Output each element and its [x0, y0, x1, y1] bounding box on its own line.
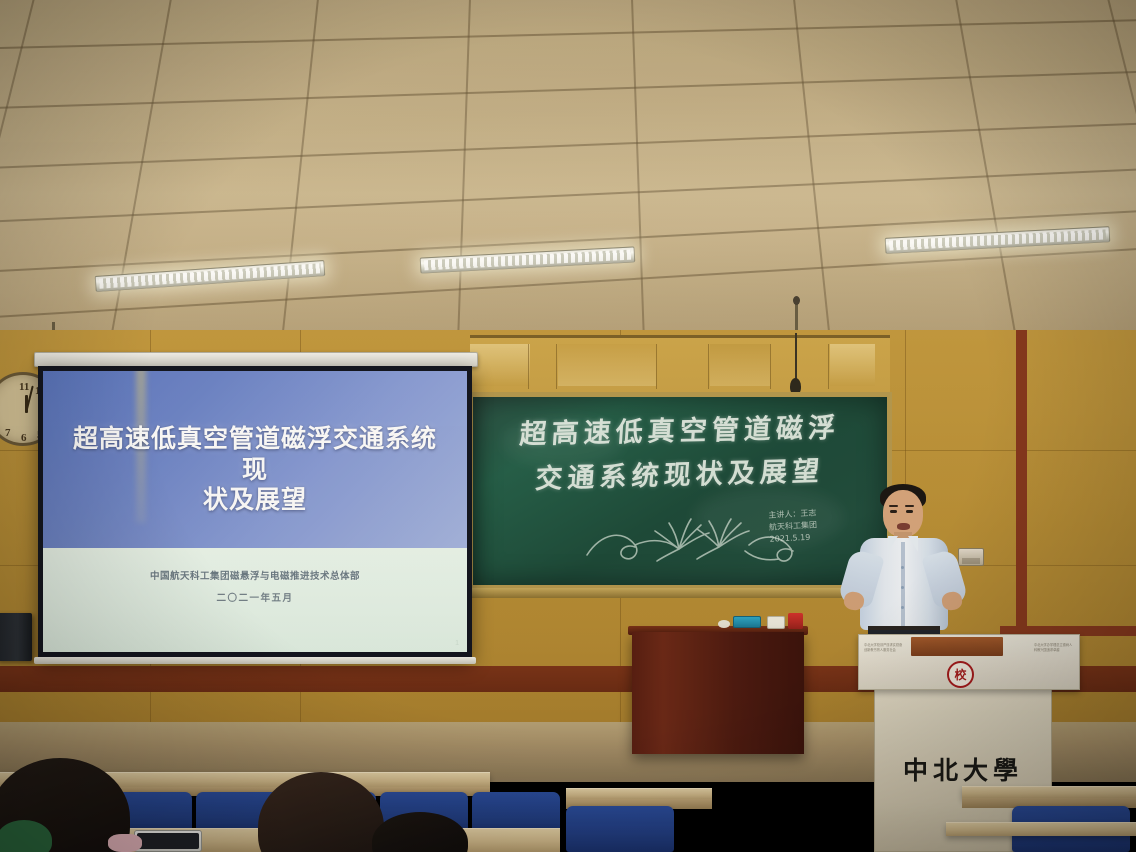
white-card[interactable]	[767, 616, 785, 629]
presenter-mouth	[897, 523, 910, 530]
projection-screen: 超高速低真空管道磁浮交通系统现 状及展望 中国航天科工集团磁悬浮与电磁推进技术总…	[38, 366, 472, 658]
podium-text-left: 中北大学校训严谨求实勤奋创新教书育人服务社会	[864, 643, 904, 685]
hanging-cord	[795, 333, 797, 381]
blue-box[interactable]	[733, 616, 761, 628]
presenter-brow-left	[889, 505, 898, 507]
slide-organization: 中国航天科工集团磁悬浮与电磁推进技术总体部	[43, 568, 467, 582]
presenter-eye-left	[890, 510, 897, 513]
tablet[interactable]	[134, 830, 202, 852]
ceiling-grid-line	[102, 0, 177, 352]
blackboard: 超高速低真空管道磁浮 交通系统现状及展望 主讲人：王志 航天科工集团 2021.…	[468, 392, 892, 590]
slide-page-number: 1	[455, 640, 459, 647]
ceiling	[0, 0, 1136, 352]
ceiling-grid-line	[0, 167, 1136, 224]
presenter-eye-right	[906, 510, 913, 513]
side-lectern	[632, 632, 804, 754]
clock-number: 11	[19, 381, 29, 393]
podium-wood-strip	[911, 637, 1003, 656]
screen-bottom-bar	[34, 657, 476, 664]
wall-panels-above-blackboard	[470, 335, 890, 393]
wall-speaker	[0, 613, 32, 661]
shirt-button	[901, 566, 904, 569]
slide-title-line-2: 状及展望	[68, 485, 441, 516]
red-object[interactable]	[788, 613, 803, 629]
shirt-button	[901, 606, 904, 609]
clock-number: 6	[21, 432, 27, 444]
panel-seam	[656, 344, 657, 389]
ceiling-grid-line	[455, 0, 472, 352]
ceiling-grid-line	[630, 0, 647, 352]
slide-title-line-1: 超高速低真空管道磁浮交通系统现	[68, 424, 441, 485]
ceiling-grid-line	[0, 0, 42, 352]
panel-glint	[558, 344, 656, 386]
panel-seam	[708, 344, 709, 389]
slide-date: 二〇二一年五月	[43, 590, 467, 604]
lecture-hall-photo: 11 12 1 7 6 5 4 超高速低真空管道磁浮 交通系统现状及展望	[0, 0, 1136, 852]
podium-text-right: 中北大学办学理念立德树人科教兴国追求卓越	[1034, 643, 1074, 685]
ceiling-grid-line	[0, 70, 1136, 110]
panel-seam	[556, 344, 557, 389]
white-object[interactable]	[718, 620, 730, 628]
seat[interactable]	[566, 806, 674, 852]
student-hand	[108, 834, 142, 852]
desk-row	[946, 822, 1136, 836]
presenter-collar-left	[888, 536, 898, 552]
chalk-tray	[464, 588, 896, 598]
ceiling-grid-line	[1100, 0, 1136, 352]
presenter-collar-right	[908, 536, 918, 552]
panel-seam	[770, 344, 771, 389]
ceiling-grid-line	[0, 121, 1136, 170]
panel-glint	[830, 344, 875, 386]
presenter-brow-right	[905, 505, 914, 507]
presentation-slide: 超高速低真空管道磁浮交通系统现 状及展望 中国航天科工集团磁悬浮与电磁推进技术总…	[43, 371, 467, 652]
ceiling-tile-grid	[0, 0, 1136, 352]
clock-number: 7	[5, 427, 11, 439]
slide-title: 超高速低真空管道磁浮交通系统现 状及展望	[68, 424, 441, 516]
podium-top-panel: 中北大学校训严谨求实勤奋创新教书育人服务社会 中北大学办学理念立德树人科教兴国追…	[858, 634, 1080, 690]
wall-trim-vertical	[1016, 330, 1027, 630]
university-seal-icon: 校	[947, 661, 974, 688]
seal-glyph: 校	[954, 666, 966, 683]
podium-institution-name: 中北大學	[875, 751, 1051, 787]
panel-seam	[828, 344, 829, 389]
panel-seam	[528, 344, 529, 389]
hanging-knob	[793, 296, 800, 305]
screen-housing[interactable]	[34, 352, 478, 367]
presenter-shirt-placket	[901, 542, 905, 628]
panel-glint	[470, 344, 530, 386]
panel-glint	[710, 344, 770, 386]
blackboard-line-1: 超高速低真空管道磁浮	[471, 405, 888, 453]
ceiling-grid-line	[0, 18, 1136, 50]
shirt-button	[901, 586, 904, 589]
